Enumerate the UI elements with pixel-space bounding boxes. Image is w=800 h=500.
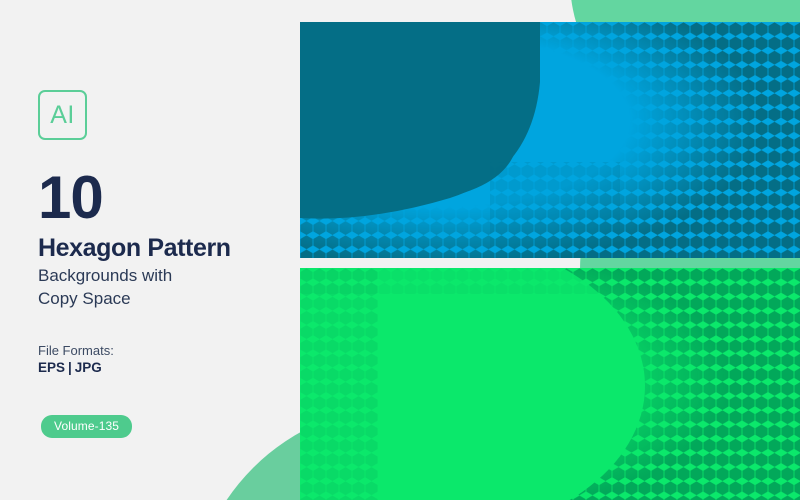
file-formats-value: EPS|JPG [38,360,102,375]
page-subtitle-line-2: Copy Space [38,287,172,310]
file-format-eps: EPS [38,360,65,375]
file-format-separator: | [65,360,75,375]
file-format-jpg: JPG [75,360,102,375]
poster-canvas: AI 10 Hexagon Pattern Backgrounds with C… [0,0,800,500]
page-title: Hexagon Pattern [38,234,231,263]
volume-badge: Volume-135 [41,415,132,438]
info-column: AI 10 Hexagon Pattern Backgrounds with C… [38,0,288,500]
item-count: 10 [38,168,103,228]
hexagon-pattern-preview-blue[interactable] [300,22,800,258]
hexagon-pattern-preview-green[interactable] [300,268,800,500]
file-formats-label: File Formats: [38,343,114,358]
adobe-illustrator-badge-label: AI [50,101,75,130]
green-halftone-svg [300,268,800,500]
blue-halftone-svg [300,22,800,258]
adobe-illustrator-badge: AI [38,90,87,140]
page-subtitle: Backgrounds with Copy Space [38,264,172,310]
page-subtitle-line-1: Backgrounds with [38,264,172,287]
